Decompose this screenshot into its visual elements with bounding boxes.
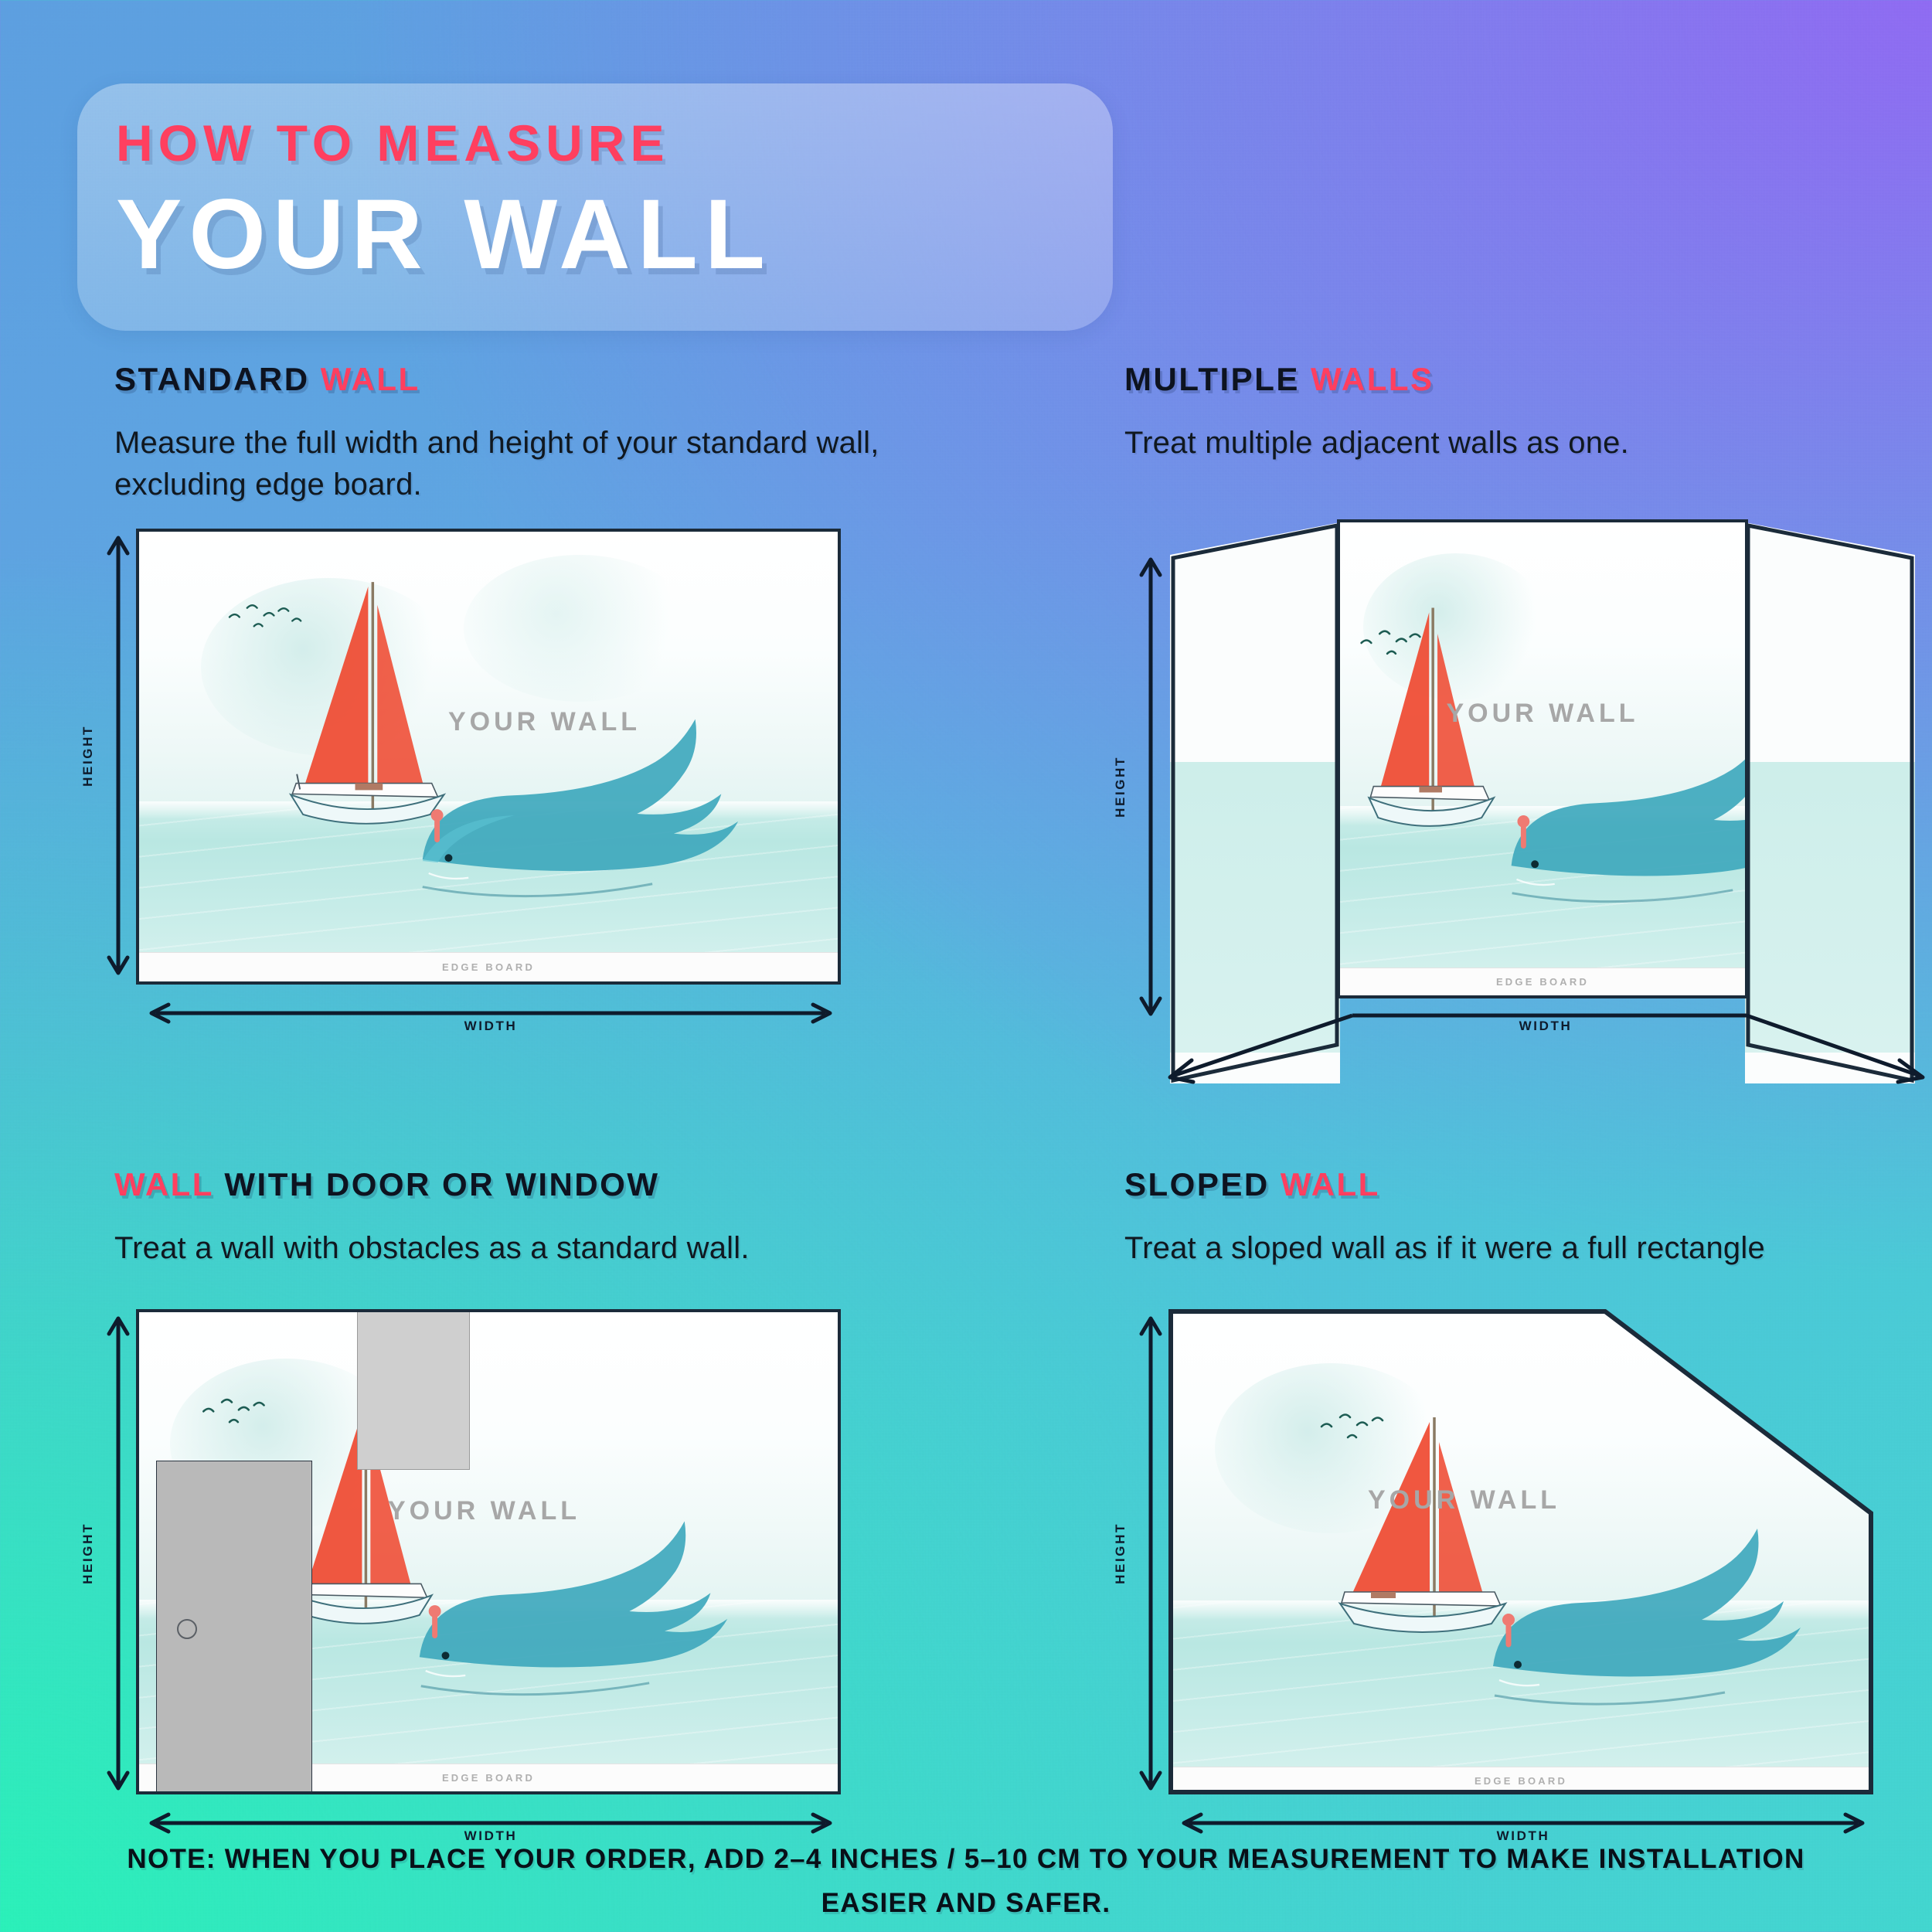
height-label: HEIGHT: [80, 725, 96, 787]
section-title-standard-wall: STANDARD WALL: [114, 363, 964, 396]
section-title-part-red: WALL: [1281, 1166, 1380, 1202]
width-dimension-door: WIDTH: [147, 1811, 835, 1838]
whale-illustration: [1512, 730, 1745, 901]
sailboat-illustration: [1369, 608, 1494, 826]
height-arrow-icon: [1138, 1314, 1164, 1793]
width-dimension-multiple: [1159, 1002, 1932, 1087]
wall-panel-right: [1745, 522, 1915, 1083]
wall-panel-right-outline: [1745, 522, 1915, 1083]
header-kicker: HOW TO MEASURE: [116, 117, 772, 168]
window-obstacle: [357, 1309, 470, 1470]
door-obstacle: [156, 1461, 312, 1794]
page-title: YOUR WALL: [116, 185, 772, 284]
birds-icon: [203, 1400, 264, 1422]
section-title-part-black: MULTIPLE: [1124, 361, 1300, 397]
width-label: WIDTH: [147, 1019, 835, 1034]
section-title-multiple-walls: MULTIPLE WALLS: [1124, 363, 1932, 396]
width-dimension-standard: WIDTH: [147, 1002, 835, 1029]
height-dimension-standard: HEIGHT: [80, 533, 131, 978]
section-description-multiple-walls: Treat multiple adjacent walls as one.: [1124, 422, 1928, 464]
section-description-sloped-wall: Treat a sloped wall as if it were a full…: [1124, 1227, 1928, 1269]
mural-artwork: [1340, 522, 1745, 995]
sailboat-illustration: [291, 582, 444, 824]
height-arrow-icon: [105, 1314, 131, 1793]
whale-illustration: [420, 1522, 727, 1695]
width-dimension-sloped: WIDTH: [1179, 1811, 1867, 1838]
width-label: WIDTH: [1360, 1019, 1731, 1034]
wall-preview-standard: YOUR WALL EDGE BOARD: [136, 529, 841, 985]
height-label: HEIGHT: [80, 1522, 96, 1584]
section-multiple-walls: MULTIPLE WALLS Treat multiple adjacent w…: [1124, 363, 1932, 464]
section-title-part-red: WALLS: [1311, 361, 1434, 397]
section-title-sloped-wall: SLOPED WALL: [1124, 1168, 1932, 1201]
section-title-part-red: WALL: [114, 1166, 213, 1202]
height-arrow-icon: [105, 533, 131, 978]
height-dimension-door: HEIGHT: [80, 1314, 131, 1793]
wall-panel-left-outline: [1170, 522, 1340, 1083]
infographic-page: HOW TO MEASURE YOUR WALL STANDARD WALL M…: [0, 0, 1932, 1932]
height-dimension-multiple: HEIGHT: [1113, 555, 1164, 1019]
section-title-part-red: WALL: [321, 361, 420, 397]
section-title-part-black: STANDARD: [114, 361, 310, 397]
door-knob-icon: [177, 1619, 197, 1639]
birds-icon: [1362, 631, 1420, 654]
header-text-group: HOW TO MEASURE YOUR WALL: [116, 117, 772, 284]
wall-panel-left: [1170, 522, 1340, 1083]
section-wall-with-door-or-window: WALL WITH DOOR OR WINDOW Treat a wall wi…: [114, 1168, 1003, 1269]
section-title-part-black: SLOPED: [1124, 1166, 1270, 1202]
birds-icon: [230, 605, 301, 626]
height-label: HEIGHT: [1113, 756, 1128, 818]
wall-preview-door-window: YOUR WALL EDGE BOARD: [136, 1309, 841, 1794]
section-title-part-black: WITH DOOR OR WINDOW: [224, 1166, 659, 1202]
section-description-wall-with-door-or-window: Treat a wall with obstacles as a standar…: [114, 1227, 918, 1269]
section-title-wall-with-door-or-window: WALL WITH DOOR OR WINDOW: [114, 1168, 1003, 1201]
section-standard-wall: STANDARD WALL Measure the full width and…: [114, 363, 964, 505]
wall-preview-multiple: YOUR WALL EDGE BOARD: [1337, 519, 1748, 998]
section-sloped-wall: SLOPED WALL Treat a sloped wall as if it…: [1124, 1168, 1932, 1269]
whale-illustration: [423, 719, 738, 896]
height-dimension-sloped: HEIGHT: [1113, 1314, 1164, 1793]
mural-artwork: [139, 532, 838, 981]
section-description-standard-wall: Measure the full width and height of you…: [114, 422, 918, 505]
wall-preview-sloped-outline: [1168, 1309, 1873, 1794]
height-arrow-icon: [1138, 555, 1164, 1019]
order-note: NOTE: WHEN YOU PLACE YOUR ORDER, ADD 2–4…: [0, 1838, 1932, 1925]
height-label: HEIGHT: [1113, 1522, 1128, 1584]
